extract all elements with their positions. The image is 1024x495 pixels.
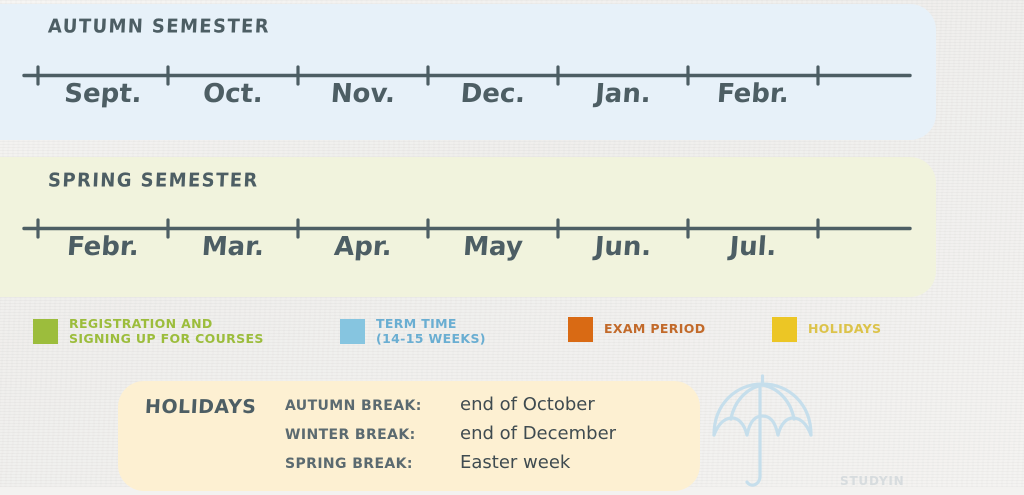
month-label: Oct. — [162, 79, 304, 109]
holiday-period: end of December — [460, 423, 616, 444]
autumn-semester-timeline: Sept.Oct.Nov.Dec.Jan.Febr. — [0, 52, 1024, 122]
legend-color-swatch — [340, 319, 365, 344]
holiday-period: Easter week — [460, 452, 570, 473]
legend-label: TERM TIME (14-15 WEEKS) — [376, 317, 486, 346]
holidays-list: AUTUMN BREAK:end of OctoberWINTER BREAK:… — [285, 394, 616, 481]
autumn-semester-title: AUTUMN SEMESTER — [48, 15, 271, 37]
holiday-row: SPRING BREAK:Easter week — [285, 452, 616, 481]
legend-item: EXAM PERIOD — [568, 317, 705, 342]
month-label: Jul. — [682, 232, 824, 262]
holiday-period: end of October — [460, 394, 595, 415]
month-label: Jun. — [552, 232, 694, 262]
legend-item: REGISTRATION AND SIGNING UP FOR COURSES — [33, 317, 264, 346]
footer-watermark: STUDYIN — [840, 474, 904, 488]
month-label: Apr. — [292, 232, 434, 262]
legend-color-swatch — [568, 317, 593, 342]
legend-item: HOLIDAYS — [772, 317, 881, 342]
umbrella-icon — [705, 372, 825, 495]
legend-label: REGISTRATION AND SIGNING UP FOR COURSES — [69, 317, 264, 346]
spring-semester-timeline: Febr.Mar.Apr.MayJun.Jul. — [0, 205, 1024, 275]
holiday-name: AUTUMN BREAK: — [285, 398, 460, 414]
holiday-row: WINTER BREAK:end of December — [285, 423, 616, 452]
legend-color-swatch — [33, 319, 58, 344]
month-label: Dec. — [422, 79, 564, 109]
month-label: May — [422, 232, 564, 262]
legend-label: EXAM PERIOD — [604, 322, 705, 337]
month-label: Sept. — [32, 79, 174, 109]
legend-color-swatch — [772, 317, 797, 342]
month-label: Nov. — [292, 79, 434, 109]
month-label: Febr. — [682, 79, 824, 109]
holiday-row: AUTUMN BREAK:end of October — [285, 394, 616, 423]
legend: REGISTRATION AND SIGNING UP FOR COURSEST… — [0, 313, 1024, 363]
holidays-heading: HOLIDAYS — [144, 396, 256, 418]
month-label: Mar. — [162, 232, 304, 262]
month-label: Jan. — [552, 79, 694, 109]
legend-item: TERM TIME (14-15 WEEKS) — [340, 317, 486, 346]
holiday-name: WINTER BREAK: — [285, 427, 460, 443]
holiday-name: SPRING BREAK: — [285, 456, 460, 472]
month-label: Febr. — [32, 232, 174, 262]
legend-label: HOLIDAYS — [808, 322, 881, 337]
spring-semester-title: SPRING SEMESTER — [48, 169, 260, 191]
